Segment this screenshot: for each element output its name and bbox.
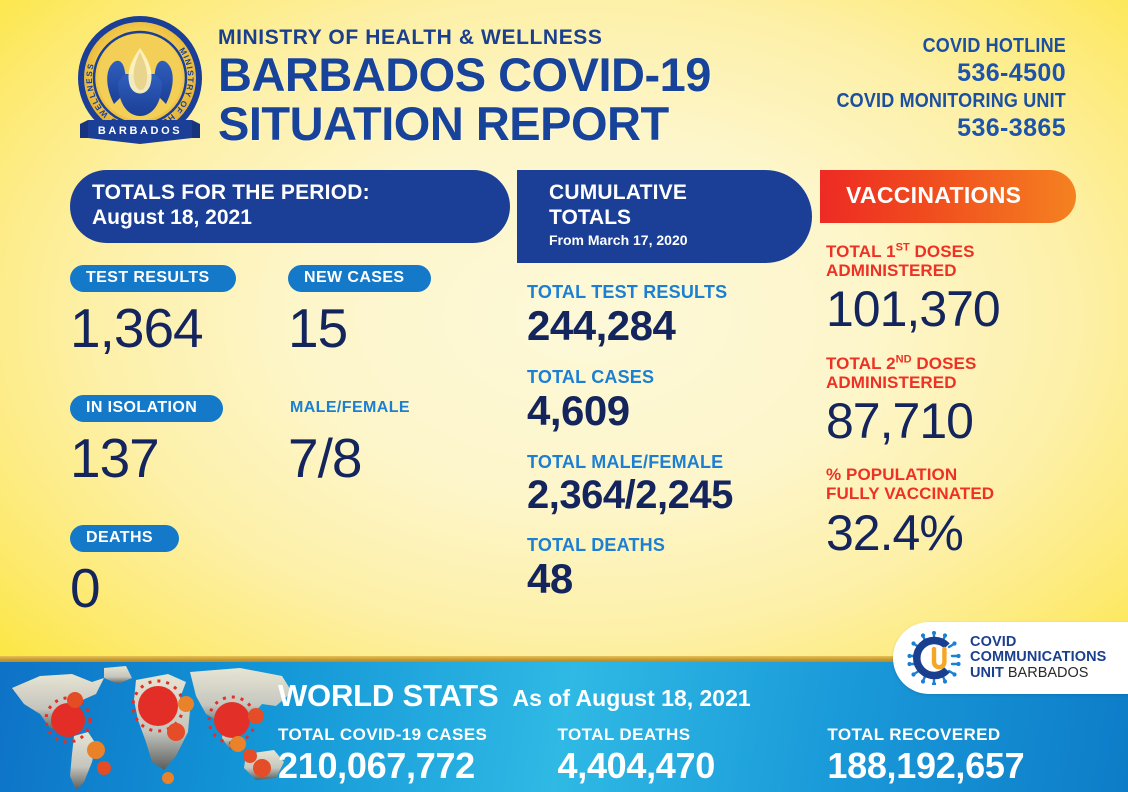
vaccinations-heading-text: VACCINATIONS: [846, 182, 1050, 209]
world-stat-total-deaths-label: TOTAL DEATHS: [558, 725, 828, 745]
cumulative-deaths-label: TOTAL DEATHS: [527, 535, 812, 556]
vacc-first-doses-label-line2: ADMINISTERED: [826, 261, 957, 280]
stat-in-isolation: IN ISOLATION 137: [70, 395, 270, 486]
hotline-number-2: 536-3865: [811, 114, 1066, 143]
cumulative-row-test-results: TOTAL TEST RESULTS 244,284: [527, 282, 812, 348]
page-title-line1: BARBADOS COVID-19: [218, 51, 778, 99]
world-stat-total-cases: TOTAL COVID-19 CASES 210,067,772: [278, 725, 558, 786]
world-stat-total-recovered: TOTAL RECOVERED 188,192,657: [827, 725, 1078, 786]
ccu-logo-barbados: BARBADOS: [1008, 665, 1089, 681]
page-title-line2: SITUATION REPORT: [218, 100, 778, 148]
cumulative-deaths-value: 48: [527, 557, 812, 601]
stat-deaths: DEATHS 0: [70, 525, 270, 616]
cumulative-male-female-label: TOTAL MALE/FEMALE: [527, 452, 812, 473]
stat-new-cases-value: 15: [288, 301, 488, 356]
stat-in-isolation-value: 137: [70, 431, 270, 486]
cumulative-heading-line2: TOTALS: [549, 205, 790, 230]
stat-new-cases-label: NEW CASES: [288, 265, 431, 292]
header: MINISTRY OF HEALTH AND WELLNESS BARBADOS…: [0, 0, 1128, 160]
stat-test-results-label: TEST RESULTS: [70, 265, 236, 292]
period-heading-pill: TOTALS FOR THE PERIOD: August 18, 2021: [70, 170, 510, 243]
vacc-fully-vaccinated-label: % POPULATION FULLY VACCINATED: [826, 465, 1076, 503]
world-stats-title: WORLD STATS: [278, 678, 499, 714]
world-stat-total-deaths: TOTAL DEATHS 4,404,470: [558, 725, 828, 786]
world-stat-total-recovered-label: TOTAL RECOVERED: [827, 725, 1078, 745]
vacc-fully-vaccinated-value: 32.4%: [826, 507, 1076, 560]
vacc-first-doses-value: 101,370: [826, 283, 1076, 336]
ccu-logo-unit: UNIT: [970, 665, 1004, 681]
hotline-label-1: COVID HOTLINE: [837, 34, 1066, 59]
stat-male-female-label: MALE/FEMALE: [288, 395, 410, 422]
cumulative-row-male-female: TOTAL MALE/FEMALE 2,364/2,245: [527, 452, 812, 516]
stat-deaths-label: DEATHS: [70, 525, 179, 552]
stat-in-isolation-label: IN ISOLATION: [70, 395, 223, 422]
title-block: MINISTRY OF HEALTH & WELLNESS BARBADOS C…: [218, 26, 778, 148]
stat-new-cases: NEW CASES 15: [288, 265, 488, 356]
ministry-name: MINISTRY OF HEALTH & WELLNESS: [218, 26, 778, 49]
vacc-fully-vaccinated-label-line1: % POPULATION: [826, 465, 957, 484]
world-stats-content: WORLD STATS As of August 18, 2021 TOTAL …: [278, 678, 1078, 786]
cumulative-heading-subtitle: From March 17, 2020: [549, 231, 790, 249]
hotline-label-2: COVID MONITORING UNIT: [837, 89, 1066, 114]
world-stat-total-cases-value: 210,067,772: [278, 746, 558, 786]
cumulative-heading-line1: CUMULATIVE: [549, 181, 790, 205]
page-title: BARBADOS COVID-19 SITUATION REPORT: [218, 51, 778, 148]
vacc-fully-vaccinated-label-line2: FULLY VACCINATED: [826, 484, 994, 503]
vaccinations-heading-pill: VACCINATIONS: [820, 170, 1076, 223]
cumulative-totals-column: CUMULATIVE TOTALS From March 17, 2020 TO…: [527, 170, 812, 601]
world-map-graphic: [0, 662, 300, 792]
world-stats-date: As of August 18, 2021: [513, 685, 751, 712]
period-totals-column: TOTALS FOR THE PERIOD: August 18, 2021 T…: [70, 170, 510, 605]
cumulative-row-deaths: TOTAL DEATHS 48: [527, 535, 812, 601]
infographic-page: MINISTRY OF HEALTH AND WELLNESS BARBADOS…: [0, 0, 1128, 792]
vacc-second-doses-label-line1: TOTAL 2ND DOSES: [826, 354, 976, 373]
vacc-second-doses-label-line2: ADMINISTERED: [826, 373, 957, 392]
cumulative-heading-pill: CUMULATIVE TOTALS From March 17, 2020: [517, 170, 812, 263]
period-heading-line1: TOTALS FOR THE PERIOD:: [92, 181, 488, 205]
covid-communications-unit-logo-panel: COVID COMMUNICATIONS UNIT BARBADOS: [893, 622, 1128, 694]
stat-test-results-value: 1,364: [70, 301, 270, 356]
vacc-row-second-doses: TOTAL 2ND DOSES ADMINISTERED 87,710: [826, 353, 1076, 447]
world-stat-total-cases-label: TOTAL COVID-19 CASES: [278, 725, 558, 745]
ccu-logo-text: COVID COMMUNICATIONS UNIT BARBADOS: [970, 635, 1106, 682]
vacc-row-first-doses: TOTAL 1ST DOSES ADMINISTERED 101,370: [826, 241, 1076, 335]
period-stats-grid: TEST RESULTS 1,364 NEW CASES 15 IN ISOLA…: [70, 265, 510, 605]
vacc-first-doses-label: TOTAL 1ST DOSES ADMINISTERED: [826, 241, 1076, 280]
vacc-second-doses-label: TOTAL 2ND DOSES ADMINISTERED: [826, 353, 1076, 392]
ministry-seal-logo: MINISTRY OF HEALTH AND WELLNESS BARBADOS: [70, 12, 210, 152]
cumulative-row-cases: TOTAL CASES 4,609: [527, 367, 812, 433]
stat-deaths-value: 0: [70, 561, 270, 616]
svg-text:BARBADOS: BARBADOS: [98, 125, 182, 137]
world-stat-total-deaths-value: 4,404,470: [558, 746, 828, 786]
vacc-second-doses-value: 87,710: [826, 395, 1076, 448]
hotline-number-1: 536-4500: [811, 59, 1066, 88]
ccu-logo-line3: UNIT BARBADOS: [970, 666, 1106, 682]
world-stats-list: TOTAL COVID-19 CASES 210,067,772 TOTAL D…: [278, 725, 1078, 786]
cumulative-test-results-label: TOTAL TEST RESULTS: [527, 282, 812, 303]
ccu-logo-line1: COVID: [970, 635, 1106, 651]
vacc-row-fully-vaccinated: % POPULATION FULLY VACCINATED 32.4%: [826, 465, 1076, 559]
cumulative-cases-label: TOTAL CASES: [527, 367, 812, 388]
hotline-block: COVID HOTLINE 536-4500 COVID MONITORING …: [811, 34, 1066, 144]
stat-test-results: TEST RESULTS 1,364: [70, 265, 270, 356]
stat-male-female: MALE/FEMALE 7/8: [288, 395, 488, 486]
stat-male-female-value: 7/8: [288, 431, 488, 486]
cumulative-male-female-value: 2,364/2,245: [527, 474, 812, 516]
ccu-virus-c-icon: [907, 631, 961, 685]
vacc-first-doses-label-line1: TOTAL 1ST DOSES: [826, 242, 975, 261]
world-stat-total-recovered-value: 188,192,657: [827, 746, 1078, 786]
period-heading-line2: August 18, 2021: [92, 205, 488, 230]
cumulative-test-results-value: 244,284: [527, 304, 812, 348]
vaccinations-column: VACCINATIONS TOTAL 1ST DOSES ADMINISTERE…: [826, 170, 1076, 559]
ccu-logo-line2: COMMUNICATIONS: [970, 650, 1106, 666]
cumulative-cases-value: 4,609: [527, 389, 812, 433]
